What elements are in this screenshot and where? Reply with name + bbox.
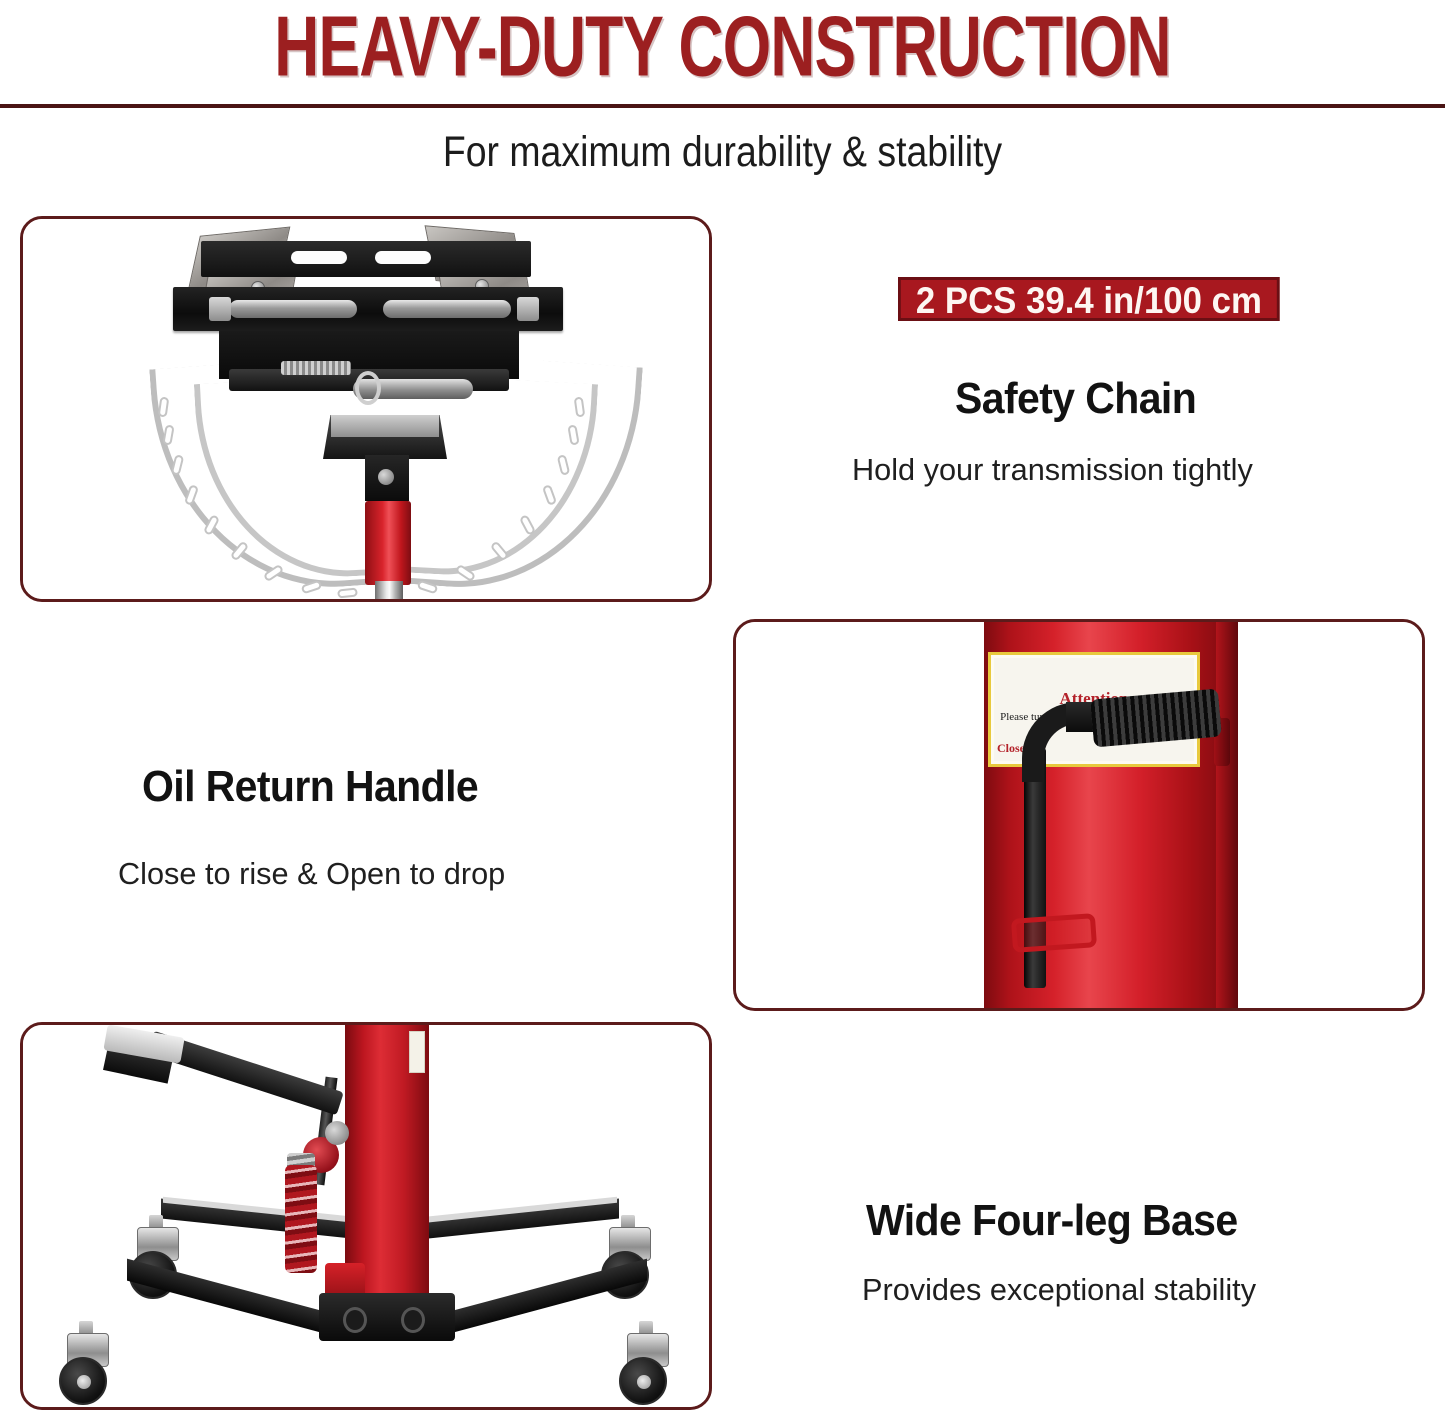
caster-front-left	[59, 1333, 115, 1395]
collar-bolt	[378, 469, 394, 485]
plate-nut	[209, 297, 231, 321]
photo-wide-four-leg-base	[20, 1022, 712, 1410]
header-banner: HEAVY-DUTY CONSTRUCTION For maximum dura…	[0, 0, 1445, 196]
feature-desc-safety-chain: Hold your transmission tightly	[852, 452, 1253, 488]
feature-desc-wide-four-leg-base: Provides exceptional stability	[862, 1272, 1256, 1308]
caster-front-right	[619, 1333, 675, 1395]
photo-safety-chain-stage	[23, 219, 709, 599]
page-subtitle: For maximum durability & stability	[94, 128, 1351, 177]
cylinder-right-edge	[1216, 622, 1238, 1011]
caster-hub	[637, 1375, 651, 1389]
plate-rod	[229, 300, 357, 318]
base-hub-hole	[343, 1307, 367, 1333]
feature-title-oil-return-handle: Oil Return Handle	[142, 762, 478, 812]
chain-link	[337, 587, 358, 598]
handle-retaining-bracket	[1011, 913, 1097, 953]
caster-hub	[77, 1375, 91, 1389]
saddle-top-rail	[201, 241, 531, 277]
feature-title-wide-four-leg-base: Wide Four-leg Base	[866, 1196, 1238, 1246]
base-leg-front-right	[435, 1259, 647, 1338]
photo-safety-chain	[20, 216, 712, 602]
photo-oil-return-handle: Attention Please turn the valve to the p…	[733, 619, 1425, 1011]
plate-rod	[383, 300, 511, 318]
base-hub-hole	[401, 1307, 425, 1333]
red-collar	[365, 501, 411, 585]
page-title: HEAVY-DUTY CONSTRUCTION	[130, 0, 1315, 95]
plate-nut	[517, 297, 539, 321]
feature-title-safety-chain: Safety Chain	[955, 374, 1196, 424]
photo-oil-return-handle-stage: Attention Please turn the valve to the p…	[736, 622, 1422, 1008]
chrome-shaft	[375, 581, 403, 602]
adjust-screw	[281, 361, 351, 375]
lift-ring-icon	[355, 371, 381, 405]
saddle-slot	[291, 251, 347, 264]
support-tray-face	[331, 415, 439, 437]
badge-safety-chain-length: 2 PCS 39.4 in/100 cm	[898, 277, 1280, 321]
photo-wide-four-leg-base-stage	[23, 1025, 709, 1407]
column-sticker	[409, 1031, 425, 1073]
title-divider	[0, 104, 1445, 108]
feature-desc-oil-return-handle: Close to rise & Open to drop	[118, 856, 505, 892]
saddle-slot	[375, 251, 431, 264]
return-spring	[285, 1165, 317, 1273]
base-center-hub	[319, 1293, 455, 1341]
pedal-pivot-bolt	[325, 1121, 349, 1145]
handle-vertical-shaft	[1024, 748, 1046, 988]
